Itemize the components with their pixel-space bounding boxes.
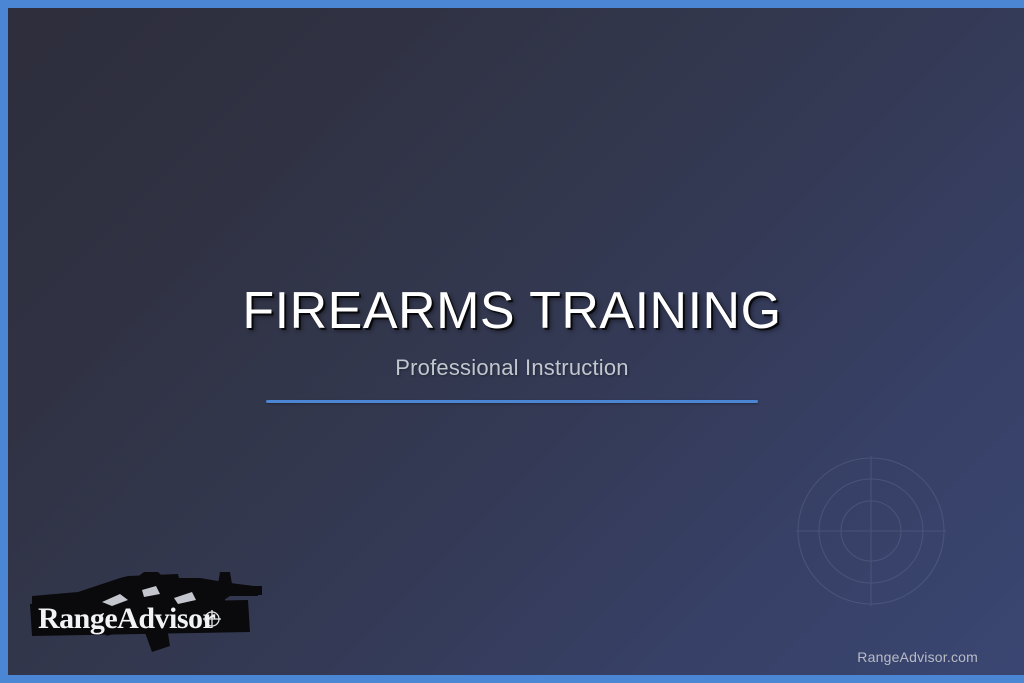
title-block: FIREARMS TRAINING Professional Instructi… <box>0 284 1024 403</box>
slide-border-bottom <box>0 675 1024 683</box>
presentation-slide: FIREARMS TRAINING Professional Instructi… <box>0 0 1024 683</box>
crosshair-target-icon <box>796 456 946 606</box>
logo-wordmark: RangeAdvisor <box>38 602 216 635</box>
slide-border-top <box>0 0 1024 8</box>
accent-divider <box>266 400 758 403</box>
page-subtitle: Professional Instruction <box>0 355 1024 381</box>
brand-logo: RangeAdvisor <box>24 562 264 662</box>
page-title: FIREARMS TRAINING <box>0 284 1024 339</box>
footer-website-url: RangeAdvisor.com <box>857 649 978 665</box>
